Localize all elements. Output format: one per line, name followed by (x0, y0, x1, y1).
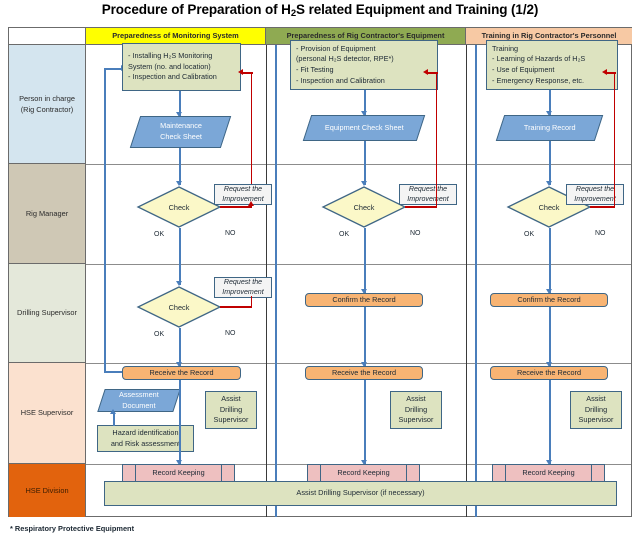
c1-check-decision-drilling-supervisor-label: Check (137, 286, 221, 328)
c3-arrow-ok-line (549, 228, 551, 293)
c3-receive-the-record: Receive the Record (490, 366, 608, 380)
c1-branch-no-1: NO (225, 230, 236, 237)
c1-feedback-line-vertical (104, 68, 106, 371)
c1-check-decision-rig-manager: Check (137, 186, 221, 228)
c2-branch-ok: OK (339, 231, 349, 238)
header-corner-blank (9, 28, 86, 45)
c2-receive-the-record: Receive the Record (305, 366, 423, 380)
c2-no-line-horizontal (405, 206, 437, 208)
c3-no-line-horizontal (590, 206, 615, 208)
c2-check-decision: Check (322, 186, 406, 228)
c3-confirm-the-record: Confirm the Record (490, 293, 608, 307)
c3-record-keeping: Record Keeping (492, 464, 605, 482)
c2-equipment-check-sheet: Equipment Check Sheet (303, 115, 425, 141)
c1-check1-no-line-horizontal (220, 206, 252, 208)
c1-maintenance-check-sheet: MaintenanceCheck Sheet (130, 116, 231, 148)
c2-arrow-doc-to-check-line (364, 141, 366, 185)
page-title-prefix: Procedure of Preparation of H (102, 2, 291, 17)
c3-branch-no: NO (595, 230, 606, 237)
c1-assist-drilling-supervisor: AssistDrillingSupervisor (205, 391, 257, 429)
c3-assist-drilling-supervisor-label: AssistDrillingSupervisor (579, 394, 614, 426)
c3-task-box: Training - Learning of Hazards of H₂S - … (486, 40, 618, 90)
c1-red-feed-vertical (251, 72, 253, 136)
c1-branch-no-2: NO (225, 330, 236, 337)
c2-assist-drilling-supervisor-label: AssistDrillingSupervisor (399, 394, 434, 426)
lane-label-rig-manager: Rig Manager (9, 164, 86, 264)
c2-check-decision-label: Check (322, 186, 406, 228)
c2-red-feed-arrowhead (423, 69, 428, 75)
swimlane-diagram: Preparedness of Monitoring System Prepar… (8, 27, 632, 517)
c1-assist-drilling-supervisor-label: AssistDrillingSupervisor (214, 394, 249, 426)
c1-hazard-identification-label: Hazard identificationand Risk assessment (111, 428, 180, 449)
c1-record-keeping: Record Keeping (122, 464, 235, 482)
c2-arrow-confirm-to-receive-line (364, 307, 366, 366)
column-separator-2 (466, 45, 467, 517)
c1-maintenance-check-sheet-label: MaintenanceCheck Sheet (160, 121, 202, 142)
c3-request-improvement-box: Request the Improvement (566, 184, 624, 205)
c2-equipment-check-sheet-label: Equipment Check Sheet (325, 123, 404, 134)
c2-no-line-vertical (436, 72, 438, 207)
c2-branch-no: NO (410, 230, 421, 237)
c1-check2-no-line-vertical (251, 296, 253, 307)
c3-arrow-confirm-to-receive-line (549, 307, 551, 366)
c3-arrow-receive-to-record-line (549, 380, 551, 464)
c3-arrow-doc-to-check-line (549, 141, 551, 185)
c3-branch-ok: OK (524, 231, 534, 238)
c2-request-improvement-box: Request the Improvement (399, 184, 457, 205)
c1-feedback-line-bottom (104, 371, 124, 373)
c3-red-feed-arrowhead (602, 69, 607, 75)
footnote: * Respiratory Protective Equipment (10, 524, 134, 533)
c2-record-keeping: Record Keeping (307, 464, 420, 482)
c1-arrow-hazard-to-doc-line (113, 414, 115, 426)
c2-task-box: - Provision of Equipment (personal H₂S d… (290, 40, 438, 90)
c1-arrow-doc-to-check1-line (179, 148, 181, 185)
c1-branch-ok-1: OK (154, 231, 164, 238)
lane-label-person-in-charge-text: Person in charge(Rig Contractor) (19, 93, 75, 115)
page-title-suffix: S related Equipment and Training (1/2) (296, 2, 538, 17)
c1-check-decision-rig-manager-label: Check (137, 186, 221, 228)
c2-confirm-the-record: Confirm the Record (305, 293, 423, 307)
c2-arrow-ok-line (364, 228, 366, 293)
c1-arrow-check1-ok-line (179, 228, 181, 285)
c1-arrow-hazard-to-doc-head (110, 409, 116, 414)
c3-no-line-vertical (614, 72, 616, 207)
c3-training-record-label: Training Record (524, 123, 576, 134)
lane-label-hse-supervisor: HSE Supervisor (9, 363, 86, 464)
c3-training-record: Training Record (496, 115, 603, 141)
c1-request-improvement-box-lower: Request the Improvement (214, 277, 272, 298)
page-title-subscript: 2 (291, 8, 296, 19)
page-title: Procedure of Preparation of H2S related … (0, 2, 640, 17)
lane-label-person-in-charge: Person in charge(Rig Contractor) (9, 45, 86, 164)
c3-assist-drilling-supervisor: AssistDrillingSupervisor (570, 391, 622, 429)
c3-left-rail (475, 45, 477, 517)
c1-request-improvement-box-upper: Request the Improvement (214, 184, 272, 205)
c1-check-decision-drilling-supervisor: Check (137, 286, 221, 328)
c1-red-feed-arrowhead (238, 69, 243, 75)
c1-arrow-receive-to-record-line (179, 380, 181, 464)
c1-check2-no-line-horizontal (220, 306, 252, 308)
c2-left-rail (275, 45, 277, 517)
c1-red-merge-arrowhead (248, 201, 254, 206)
c2-arrow-receive-to-record-line (364, 380, 366, 464)
lane-label-hse-division: HSE Division (9, 464, 86, 517)
c1-feedback-line-horizontal (104, 68, 122, 70)
c1-task-box: - Installing H₂S Monitoring System (no. … (122, 43, 241, 91)
c1-branch-ok-2: OK (154, 331, 164, 338)
c2-assist-drilling-supervisor: AssistDrillingSupervisor (390, 391, 442, 429)
lane-label-drilling-supervisor: Drilling Supervisor (9, 264, 86, 363)
c1-assessment-document-label: AssessmentDocument (119, 390, 159, 411)
assist-drilling-supervisor-if-necessary: Assist Drilling Supervisor (if necessary… (104, 481, 617, 506)
c1-arrow-check2-ok-line (179, 328, 181, 366)
c1-receive-the-record: Receive the Record (122, 366, 241, 380)
